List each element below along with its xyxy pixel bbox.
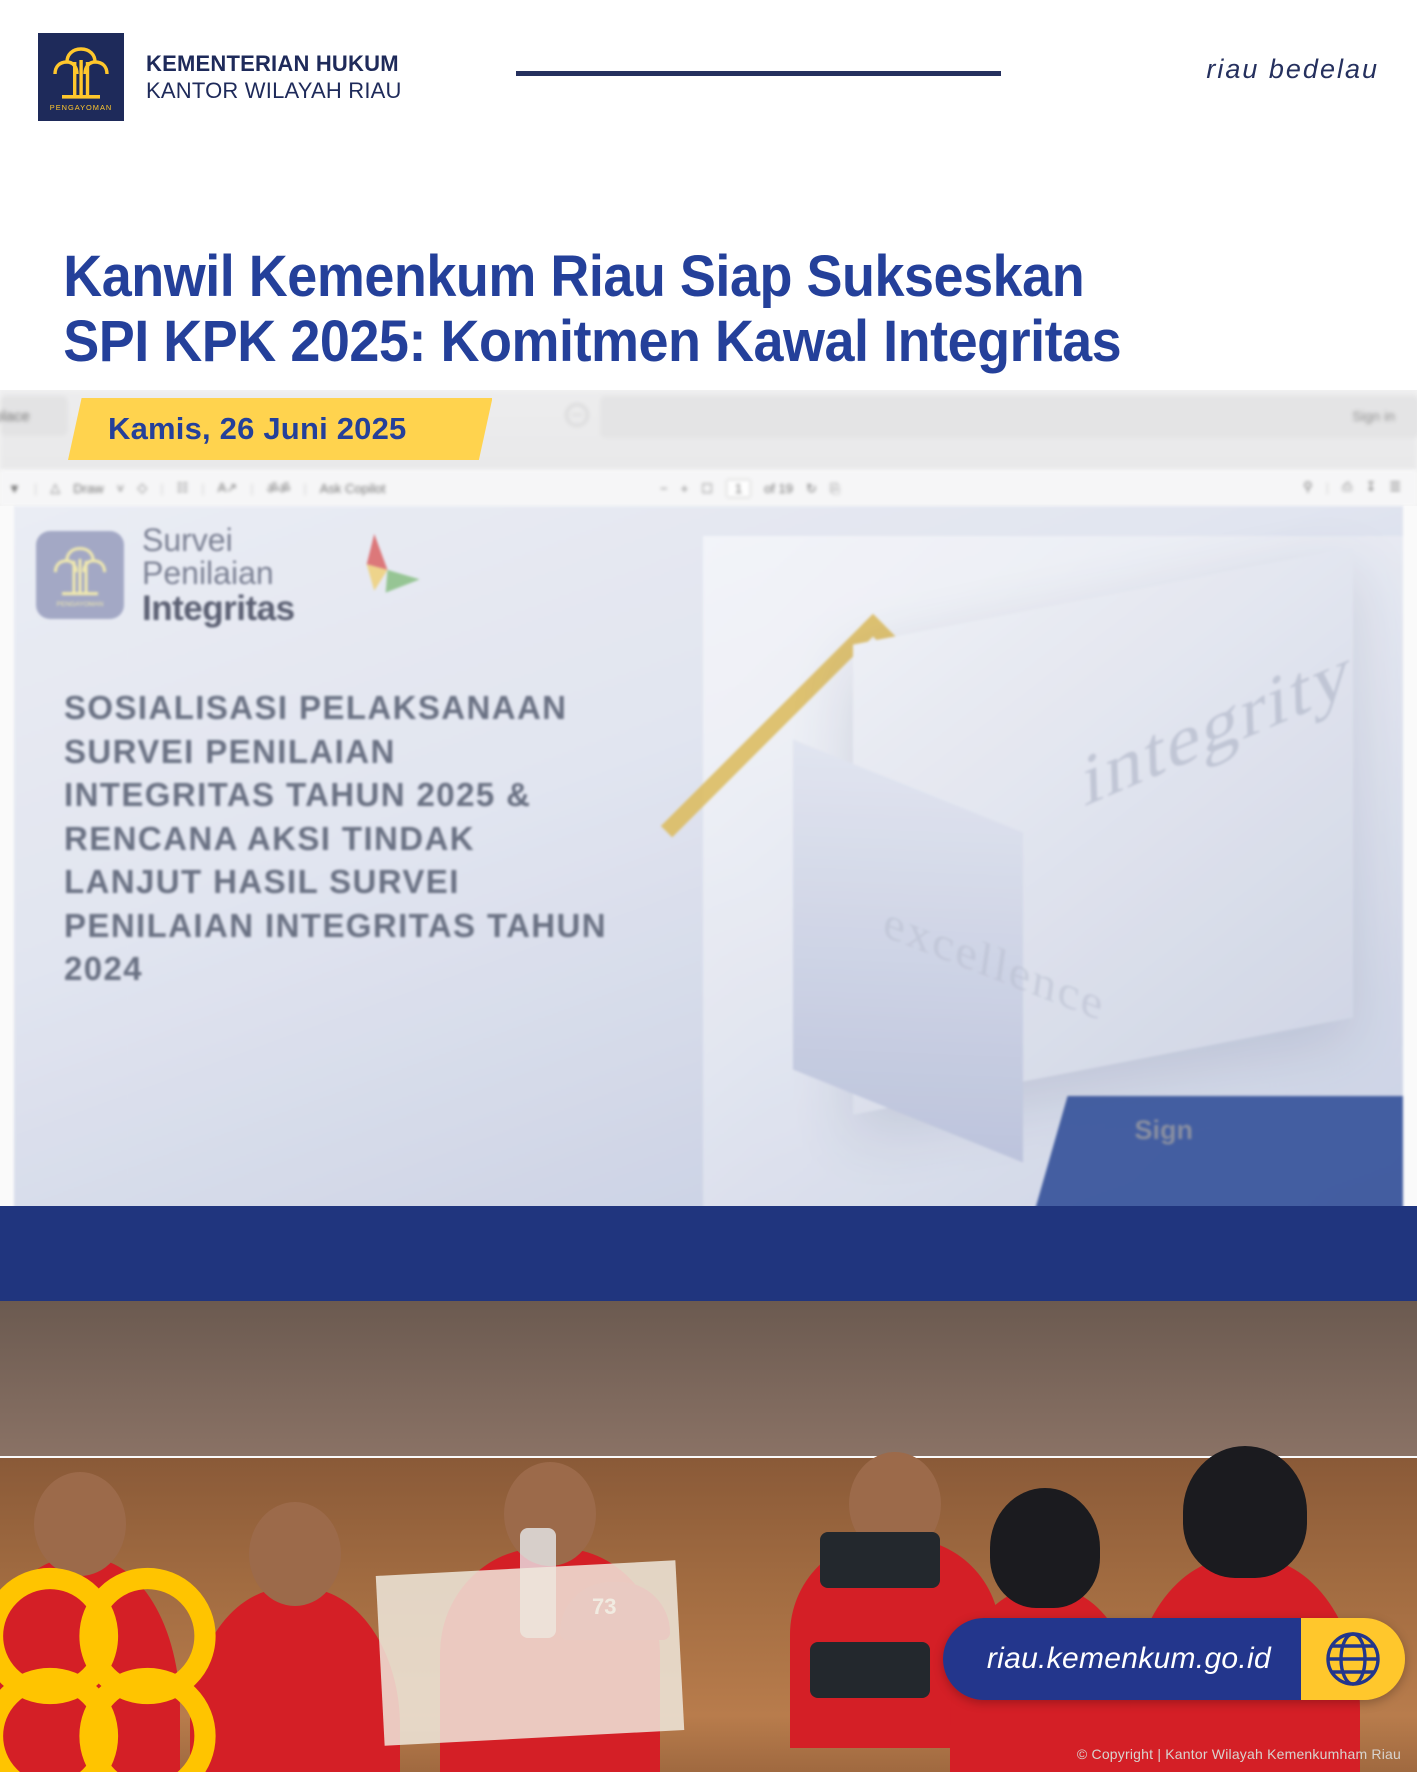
- toolbar-separator: |: [1326, 480, 1329, 495]
- spi-badge-caption: PENGAYOMAN: [57, 602, 104, 609]
- rotate-icon[interactable]: ↻: [806, 481, 817, 497]
- person-6-head: [1183, 1446, 1307, 1578]
- pengayoman-logo-icon: PENGAYOMAN: [38, 33, 124, 121]
- pdf-tool-group-right: ⚲ | ⎙ ↧ ☰: [1303, 479, 1401, 495]
- ministry-logo-block: PENGAYOMAN KEMENTERIAN HUKUM KANTOR WILA…: [38, 33, 402, 121]
- photo-back-wall: [0, 1206, 1417, 1456]
- save-icon[interactable]: ↧: [1365, 479, 1376, 495]
- translate-icon[interactable]: ॐॐ: [267, 479, 291, 497]
- poster-root: PENGAYOMAN KEMENTERIAN HUKUM KANTOR WILA…: [0, 0, 1417, 1772]
- highlight-icon[interactable]: ▼: [8, 481, 21, 496]
- draw-icon[interactable]: △: [50, 480, 60, 496]
- notebook-paper: [376, 1560, 684, 1745]
- read-aloud-icon[interactable]: A↗: [218, 480, 238, 496]
- smartphone-1: [820, 1532, 940, 1588]
- smartphone-2: [810, 1642, 930, 1698]
- pdf-toolbar: ▼ | △ Draw ˅ ◇ | ☷ | A↗ | ॐॐ | Ask Copil…: [0, 470, 1417, 506]
- article-date-badge: Kamis, 26 Juni 2025: [68, 398, 492, 460]
- search-icon[interactable]: ⚲: [1303, 479, 1313, 495]
- pdf-tool-group-left: ▼ | △ Draw ˅ ◇ | ☷ | A↗ | ॐॐ | Ask Copil…: [8, 479, 385, 497]
- globe-icon: [1301, 1618, 1405, 1700]
- page-header: PENGAYOMAN KEMENTERIAN HUKUM KANTOR WILA…: [0, 0, 1417, 160]
- toolbar-separator: |: [34, 481, 37, 496]
- more-tools-icon[interactable]: ☰: [1389, 479, 1401, 495]
- spi-wordmark: Survei Penilaian Integritas: [142, 524, 295, 627]
- eraser-icon[interactable]: ◇: [137, 480, 147, 496]
- layout-icon[interactable]: ☷: [177, 480, 189, 496]
- pdf-tool-group-center: − + ☐ 1 of 19 ↻ ⎘: [660, 479, 840, 498]
- spi-word-penilaian: Penilaian: [142, 557, 295, 590]
- person-2-head: [249, 1502, 341, 1606]
- website-url[interactable]: riau.kemenkum.go.id: [943, 1618, 1301, 1700]
- ask-copilot-button[interactable]: Ask Copilot: [320, 481, 386, 496]
- page-total-label: of 19: [764, 481, 793, 496]
- browser-tab-label[interactable]: place: [0, 408, 30, 425]
- ministry-line2: KANTOR WILAYAH RIAU: [146, 77, 402, 105]
- website-badge[interactable]: riau.kemenkum.go.id: [943, 1618, 1405, 1700]
- article-screenshot: place ⋯ Sign in ▼ | △ Draw ˅ ◇ | ☷ | A↗ …: [0, 390, 1417, 1772]
- browser-address-pill: [600, 396, 1417, 438]
- toolbar-separator: |: [250, 481, 253, 496]
- draw-chevron-down-icon[interactable]: ˅: [117, 481, 125, 496]
- spi-logo: PENGAYOMAN Survei Penilaian Integritas: [36, 524, 295, 627]
- more-options-icon[interactable]: ⋯: [566, 404, 588, 426]
- cube-word-integrity: integrity: [1082, 627, 1354, 825]
- spi-word-integritas: Integritas: [142, 591, 295, 627]
- pengayoman-caption: PENGAYOMAN: [50, 103, 112, 112]
- page-number-input[interactable]: 1: [726, 479, 751, 498]
- slide-title: SOSIALISASI PELAKSANAAN SURVEI PENILAIAN…: [64, 686, 684, 991]
- toolbar-separator: |: [160, 481, 163, 496]
- sign-label: Sign: [1135, 1115, 1194, 1146]
- toolbar-separator: |: [201, 481, 204, 496]
- spi-word-survei: Survei: [142, 524, 295, 557]
- copyright-text: © Copyright | Kantor Wilayah Kemenkumham…: [1077, 1746, 1401, 1762]
- ministry-name: KEMENTERIAN HUKUM KANTOR WILAYAH RIAU: [146, 50, 402, 105]
- toolbar-separator: |: [303, 481, 306, 496]
- pengayoman-watermark-icon: [0, 1546, 240, 1772]
- headline-block: Kanwil Kemenkum Riau Siap Sukseskan SPI …: [0, 160, 1417, 387]
- spi-pengayoman-icon: PENGAYOMAN: [36, 531, 124, 619]
- page-title: Kanwil Kemenkum Riau Siap Sukseskan SPI …: [0, 160, 1318, 375]
- zoom-in-button[interactable]: +: [681, 481, 689, 496]
- region-tagline: riau bedelau: [1206, 54, 1379, 85]
- header-divider-rule: [516, 71, 1001, 76]
- ministry-line1: KEMENTERIAN HUKUM: [146, 50, 402, 78]
- page-view-icon[interactable]: ⎘: [830, 481, 840, 497]
- person-5-head: [990, 1488, 1100, 1608]
- zoom-out-button[interactable]: −: [660, 481, 668, 496]
- sign-in-button[interactable]: Sign in: [1352, 408, 1395, 424]
- print-icon[interactable]: ⎙: [1342, 479, 1352, 495]
- spi-leaf-icon: [336, 532, 422, 604]
- fit-page-icon[interactable]: ☐: [701, 481, 713, 497]
- draw-label[interactable]: Draw: [73, 481, 103, 496]
